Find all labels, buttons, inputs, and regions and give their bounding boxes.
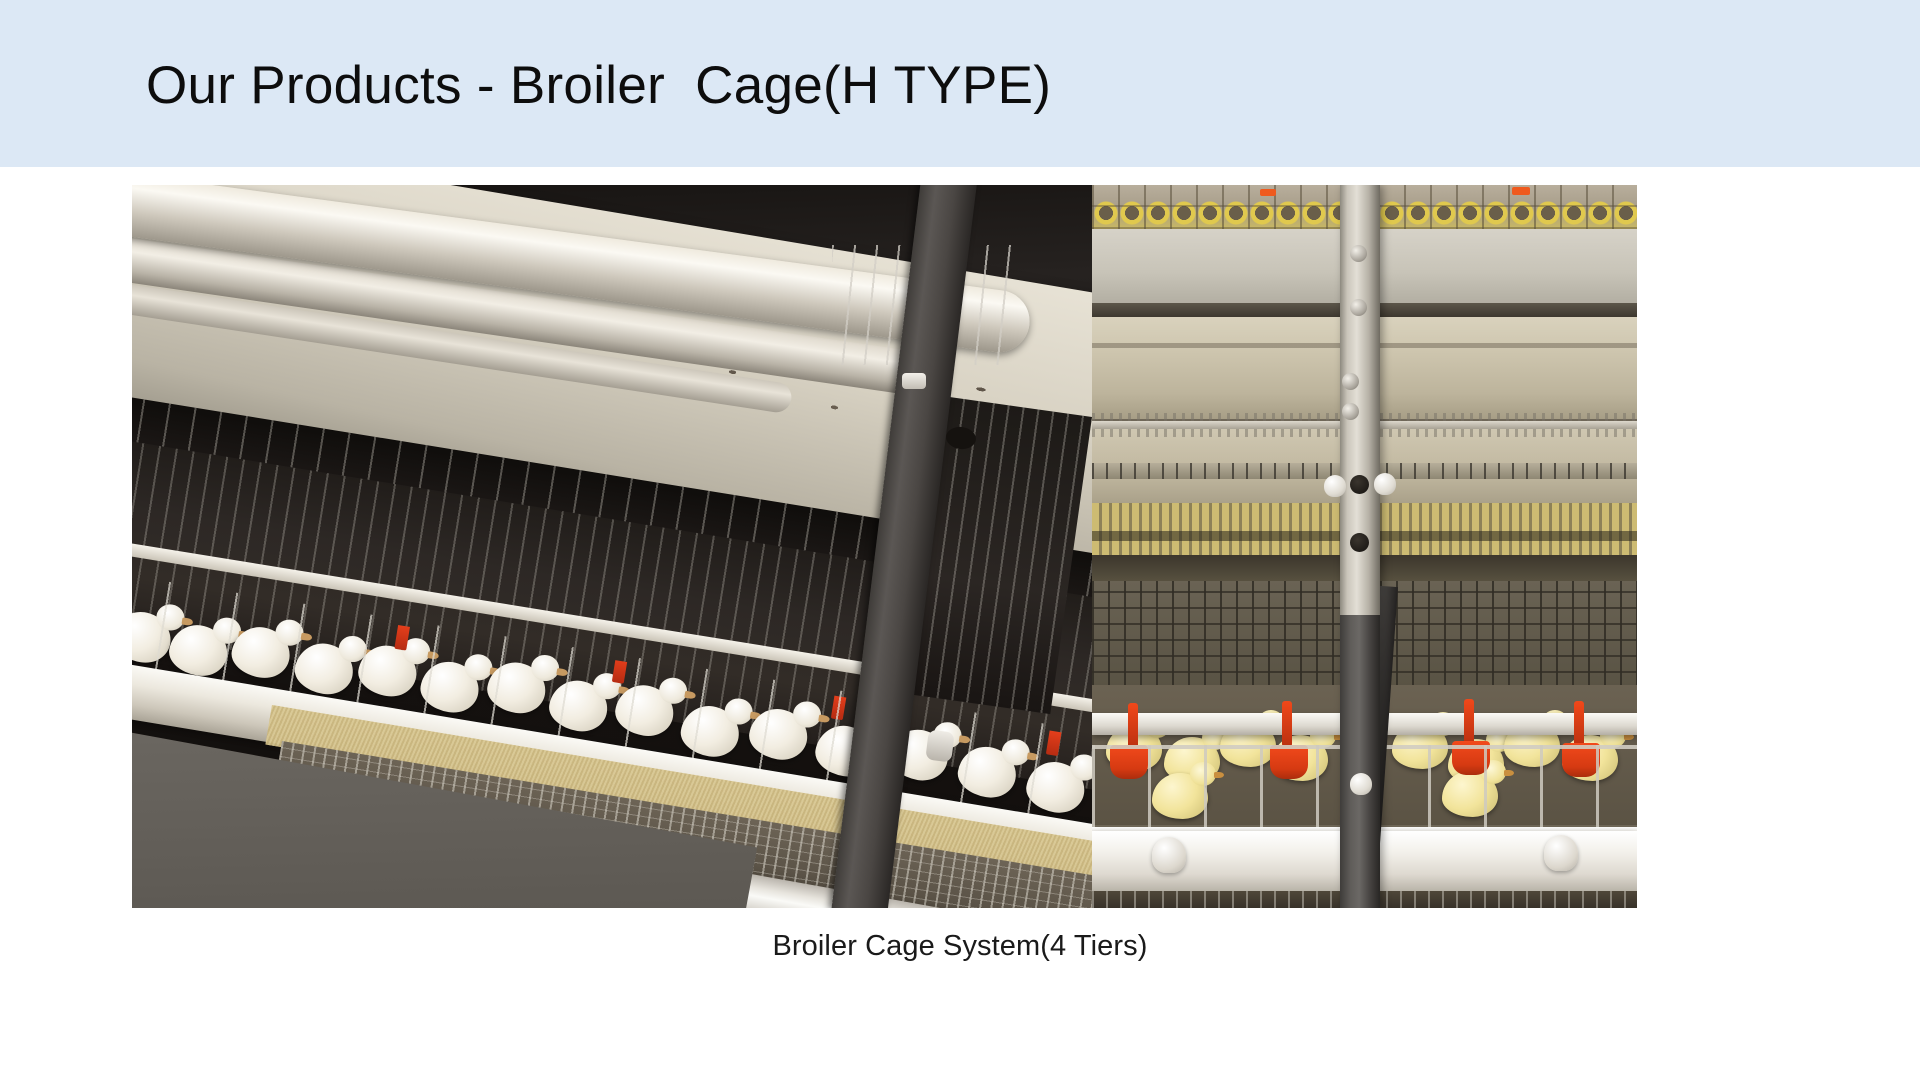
post-bolt (1350, 299, 1367, 316)
tile-accent (1260, 189, 1276, 196)
post-cap (925, 730, 954, 763)
frame-post-lower (1340, 615, 1380, 908)
post-bolt (1350, 245, 1367, 262)
nipple-drinker-knob (1350, 773, 1372, 795)
tile-accent (1512, 187, 1530, 195)
post-bolt (1342, 403, 1359, 420)
drinker-arm (1464, 699, 1474, 745)
page-title: Our Products - Broiler Cage(H TYPE) (146, 57, 1051, 115)
image-caption: Broiler Cage System(4 Tiers) (0, 930, 1920, 963)
trough-fitting (1152, 837, 1186, 873)
drinker-arm (1282, 701, 1292, 747)
broiler-cage-aisle-photo (132, 185, 1092, 908)
post-bracket (902, 373, 926, 389)
slide-header-band: Our Products - Broiler Cage(H TYPE) (0, 0, 1920, 167)
trough-fitting (1544, 835, 1578, 871)
post-hole (1350, 533, 1369, 552)
nipple-drinker-knob (1324, 475, 1346, 497)
post-hole (1350, 475, 1369, 494)
drinker-arm (1128, 703, 1138, 749)
nipple-drinker-knob (1374, 473, 1396, 495)
post-bolt (1342, 373, 1359, 390)
product-image-group (132, 185, 1637, 908)
drinker-arm (1574, 701, 1584, 747)
broiler-cage-post-photo (1092, 185, 1637, 908)
